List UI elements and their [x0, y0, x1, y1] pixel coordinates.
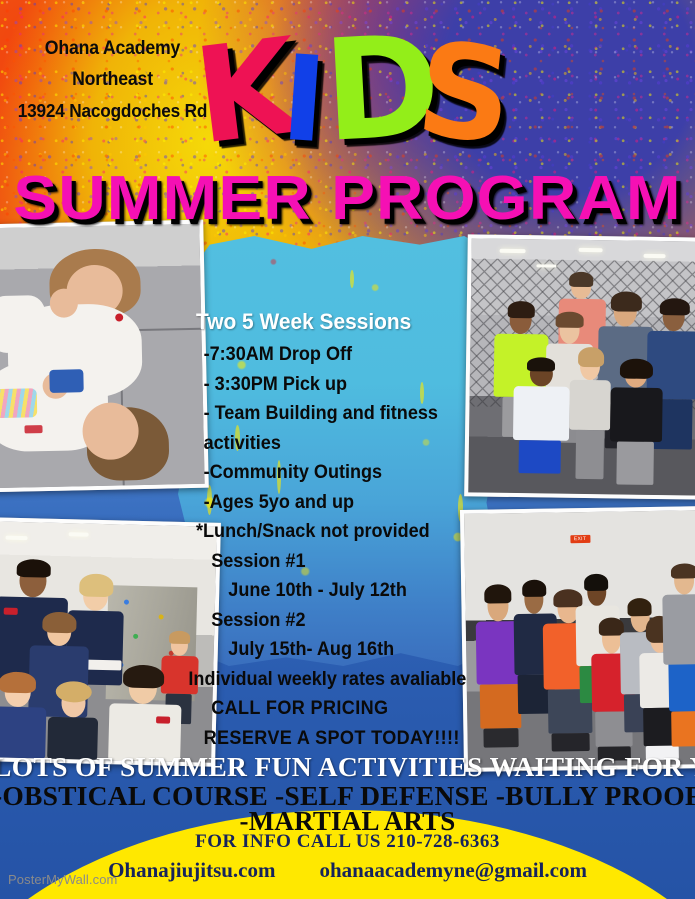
ohana-patch: [156, 716, 170, 723]
kid-shirt: [610, 388, 662, 442]
detail-bullet: - 3:30PM Pick up: [196, 370, 481, 400]
photo-scene: [0, 521, 217, 762]
activities-banner-line1: LOTS OF SUMMER FUN ACTIVITIES WAITING FO…: [0, 752, 695, 782]
kid-hair: [507, 301, 535, 319]
kid-shoes: [484, 728, 519, 747]
kid-shorts: [519, 440, 562, 474]
kid-shirt: [569, 379, 611, 430]
detail-bullet: -7:30AM Drop Off: [196, 340, 481, 370]
footer-phone[interactable]: FOR INFO CALL US 210-728-6363: [0, 831, 695, 853]
ceiling-light: [6, 536, 28, 541]
adult-hair: [671, 563, 695, 579]
adult-hair: [611, 292, 643, 312]
adult-shirt: [662, 594, 695, 664]
paint-drip: [350, 270, 354, 288]
climbing-hold: [159, 614, 164, 619]
photo-instructor-kids: [0, 517, 221, 767]
kid-hair: [169, 631, 190, 644]
adult-figure: [662, 566, 695, 724]
kid-hair: [628, 598, 652, 616]
detail-bullet: activities: [196, 429, 481, 459]
kid-figure: [0, 677, 47, 759]
kid-hair: [484, 585, 511, 604]
call-for-pricing: CALL FOR PRICING: [196, 694, 481, 724]
gi-patch: [4, 608, 18, 615]
kid-hair: [620, 359, 653, 380]
blue-belt-detail: [49, 369, 84, 393]
photo-kids-grappling: [0, 220, 209, 493]
child-hand: [49, 289, 78, 318]
photo-scene: [0, 224, 205, 488]
academy-info-block: Ohana Academy Northeast 13924 Nacogdoche…: [17, 33, 208, 126]
ohana-patch: [24, 425, 42, 433]
kid-leggings: [575, 430, 603, 479]
kid-figure: [45, 688, 100, 760]
instructor-hair: [17, 559, 51, 578]
striped-sock: [0, 388, 37, 417]
academy-address: 13924 Nacogdoches Rd: [17, 95, 208, 126]
weekly-rates-note: Individual weekly rates avaliable: [188, 665, 481, 695]
footer-website[interactable]: Ohanajiujitsu.com: [108, 858, 275, 883]
kid-pants: [616, 441, 653, 485]
academy-name-line2: Northeast: [17, 64, 208, 95]
ceiling-light: [499, 249, 525, 253]
kid-hair: [123, 665, 165, 689]
kid-shoes: [552, 733, 590, 751]
photo-scene: [468, 238, 695, 495]
climbing-hold: [133, 634, 138, 639]
detail-bullet: *Lunch/Snack not provided: [196, 517, 481, 547]
kid-hair: [556, 312, 584, 328]
kid-hair: [79, 574, 113, 598]
kid-hair: [0, 672, 36, 694]
kid-hair: [527, 357, 555, 371]
kid-hair: [584, 573, 608, 590]
kid-hair: [659, 298, 689, 316]
kid-figure: [607, 362, 664, 490]
flyer-canvas: EXIT: [0, 0, 695, 899]
exit-sign: EXIT: [570, 535, 590, 543]
kids-title: K I D S: [196, 14, 496, 174]
academy-name-line1: Ohana Academy: [17, 33, 208, 64]
ceiling-light: [69, 533, 89, 537]
kid-hair: [578, 347, 604, 368]
kid-hair: [569, 272, 594, 287]
program-details-block: Two 5 Week Sessions -7:30AM Drop Off - 3…: [196, 306, 481, 753]
kid-shirt: [513, 386, 569, 440]
ceiling-light: [643, 253, 665, 257]
ceiling-light: [578, 247, 602, 251]
kid-hair: [42, 611, 76, 633]
footer-email[interactable]: ohanaacademyne@gmail.com: [320, 858, 587, 883]
detail-bullet: -Ages 5yo and up: [196, 488, 481, 518]
white-gi-sleeve: [0, 295, 46, 353]
photo-kids-lineup: EXIT: [460, 506, 695, 772]
kids-letter-s: S: [411, 23, 518, 162]
detail-bullet: -Community Outings: [196, 458, 481, 488]
session-1-label: Session #1: [196, 547, 481, 577]
kid-figure: [510, 361, 572, 489]
kid-figure: [566, 351, 614, 479]
photo-group-flexing: [464, 234, 695, 499]
session-1-dates: June 10th - July 12th: [196, 576, 481, 606]
summer-program-title: SUMMER PROGRAM: [0, 168, 695, 230]
detail-bullet: - Team Building and fitness: [196, 399, 481, 429]
details-headline: Two 5 Week Sessions: [196, 306, 481, 338]
session-2-label: Session #2: [196, 606, 481, 636]
reserve-a-spot: RESERVE A SPOT TODAY!!!!: [196, 724, 481, 754]
postermywall-watermark: PosterMyWall.com: [8, 872, 117, 887]
photo-scene: EXIT: [464, 510, 695, 768]
session-2-dates: July 15th- Aug 16th: [196, 635, 481, 665]
kid-gi: [0, 706, 47, 759]
kid-figure: [108, 671, 182, 762]
